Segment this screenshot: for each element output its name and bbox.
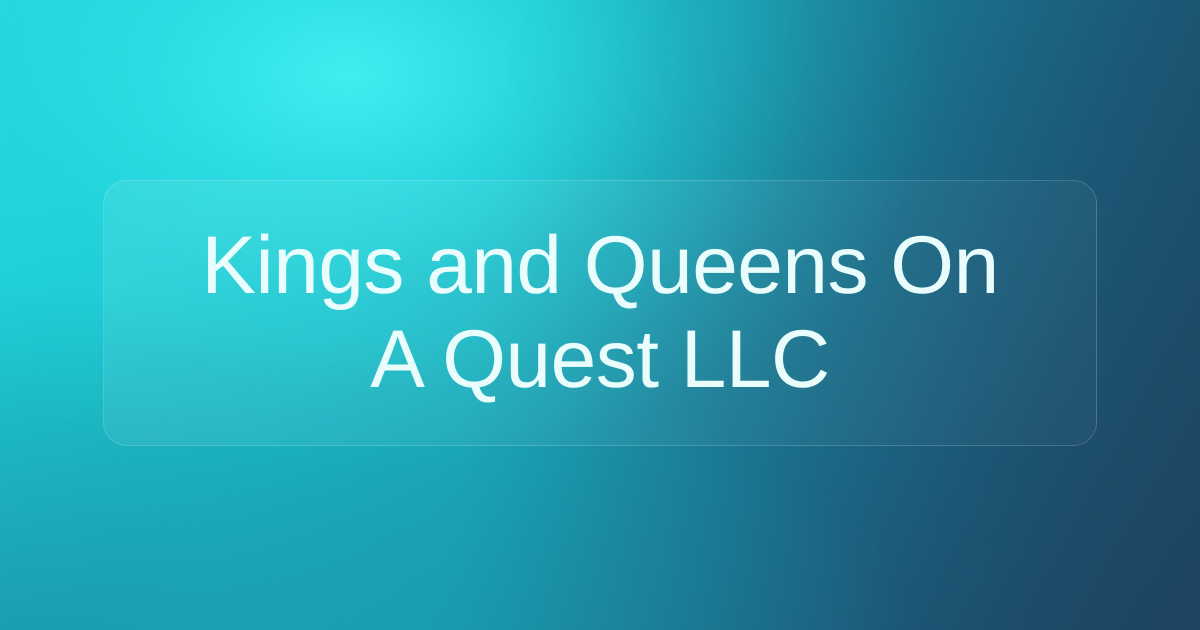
title-card: Kings and Queens On A Quest LLC	[103, 180, 1097, 446]
page-title: Kings and Queens On A Quest LLC	[104, 219, 1096, 407]
og-card-canvas: Kings and Queens On A Quest LLC	[0, 0, 1200, 630]
